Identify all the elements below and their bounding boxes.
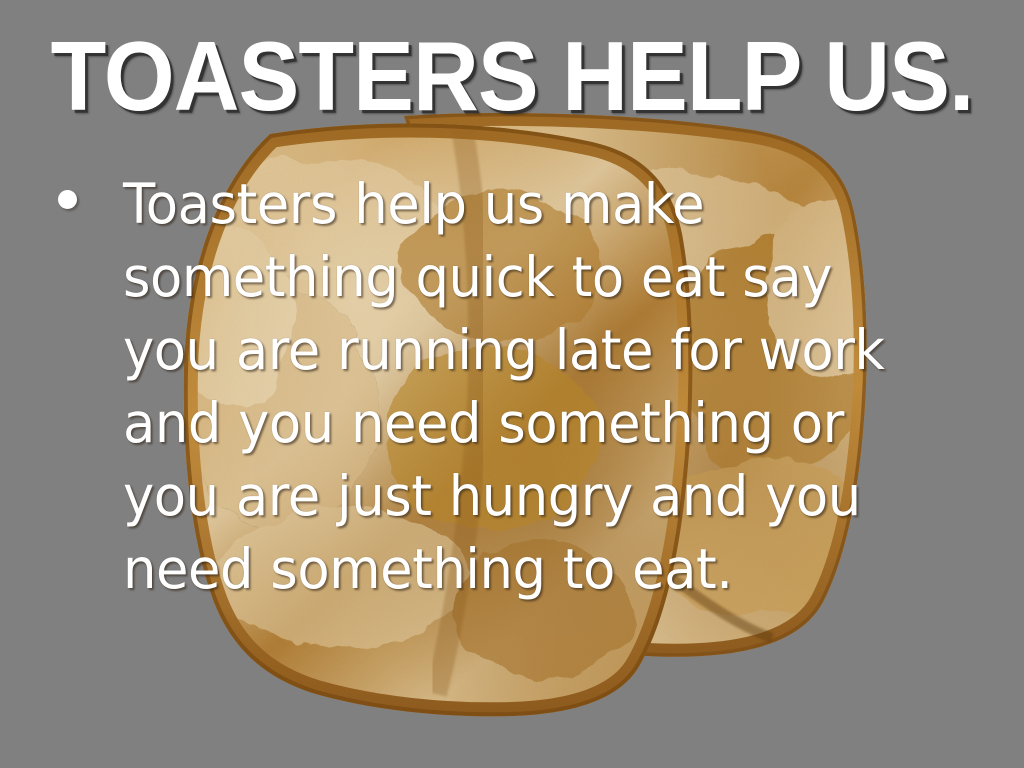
bullet-dot-icon — [58, 190, 77, 209]
slide-title: TOASTERS HELP US. — [36, 26, 988, 126]
bullet-list: Toasters help us make something quick to… — [58, 168, 938, 606]
bullet-item-text: Toasters help us make something quick to… — [123, 168, 905, 606]
slide-canvas: TOASTERS HELP US. Toasters help us make … — [0, 0, 1024, 768]
